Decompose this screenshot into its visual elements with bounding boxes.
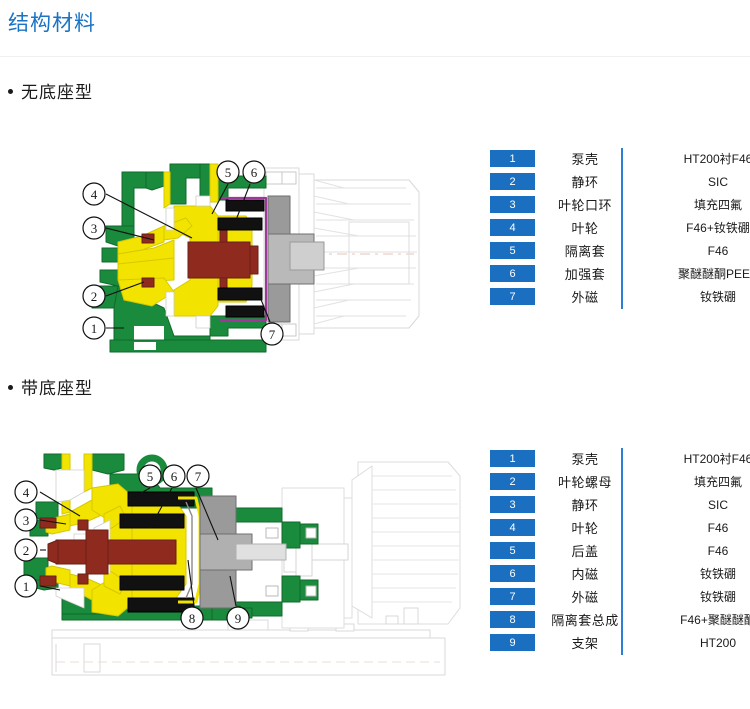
callout-2: 2 <box>23 543 30 558</box>
legend-row: 9 支架 HT200 <box>490 632 750 655</box>
callout-6: 6 <box>251 165 258 180</box>
callout-8: 8 <box>189 611 196 626</box>
legend-badge: 6 <box>490 265 535 282</box>
callout-1: 1 <box>23 579 30 594</box>
legend-row: 8 隔离套总成 F46+聚醚醚酮 <box>490 609 750 632</box>
diagram-no-baseplate: 4 3 2 1 5 6 7 <box>14 130 464 370</box>
legend-row: 7 外磁 钕铁硼 <box>490 286 750 309</box>
legend-row: 5 后盖 F46 <box>490 540 750 563</box>
bullet-dot-icon <box>8 89 13 94</box>
legend-badge: 3 <box>490 496 535 513</box>
legend-material: 钕铁硼 <box>650 586 750 609</box>
legend-part-name: 后盖 <box>535 540 635 563</box>
legend-material: SIC <box>650 494 750 517</box>
legend-material: 填充四氟 <box>650 471 750 494</box>
legend-material: F46 <box>650 540 750 563</box>
legend-material: HT200衬F46 <box>650 148 750 171</box>
section-heading-text: 带底座型 <box>21 379 93 398</box>
legend-material: F46 <box>650 517 750 540</box>
legend-row: 5 隔离套 F46 <box>490 240 750 263</box>
bullet-dot-icon <box>8 385 13 390</box>
legend-rows: 1 泵壳 HT200衬F46 2 叶轮螺母 填充四氟 3 静环 SIC 4 叶轮… <box>490 448 750 655</box>
legend-part-name: 泵壳 <box>535 448 635 471</box>
legend-part-name: 静环 <box>535 171 635 194</box>
legend-part-name: 叶轮螺母 <box>535 471 635 494</box>
callout-7: 7 <box>195 469 202 484</box>
legend-material: 钕铁硼 <box>650 563 750 586</box>
legend-badge: 7 <box>490 588 535 605</box>
legend-material: F46 <box>650 240 750 263</box>
legend-part-name: 静环 <box>535 494 635 517</box>
section-heading-text: 无底座型 <box>21 83 93 102</box>
callout-6: 6 <box>171 469 178 484</box>
legend-badge: 4 <box>490 219 535 236</box>
shaft-and-inner-magnet-red <box>188 242 258 278</box>
section-heading-with-base: 带底座型 <box>8 378 93 400</box>
callout-3: 3 <box>23 513 30 528</box>
callout-5: 5 <box>147 469 154 484</box>
section-heading-no-base: 无底座型 <box>8 82 93 104</box>
legend-badge: 6 <box>490 565 535 582</box>
legend-row: 1 泵壳 HT200衬F46 <box>490 448 750 471</box>
structural-material-page: 结构材料 无底座型 <box>0 0 750 709</box>
legend-material: HT200 <box>650 632 750 655</box>
legend-badge: 5 <box>490 542 535 559</box>
legend-part-name: 支架 <box>535 632 635 655</box>
legend-row: 4 叶轮 F46 <box>490 517 750 540</box>
legend-row: 6 加强套 聚醚醚酮PEEK <box>490 263 750 286</box>
rear-shaft-gray <box>236 544 286 560</box>
legend-badge: 2 <box>490 473 535 490</box>
legend-row: 3 叶轮口环 填充四氟 <box>490 194 750 217</box>
legend-badge: 5 <box>490 242 535 259</box>
callout-4: 4 <box>91 187 98 202</box>
title-divider <box>0 56 750 57</box>
legend-row: 2 叶轮螺母 填充四氟 <box>490 471 750 494</box>
legend-badge: 2 <box>490 173 535 190</box>
legend-table-with-base: 1 泵壳 HT200衬F46 2 叶轮螺母 填充四氟 3 静环 SIC 4 叶轮… <box>490 448 750 655</box>
legend-badge: 8 <box>490 611 535 628</box>
legend-row: 4 叶轮 F46+钕铁硼 <box>490 217 750 240</box>
callout-9: 9 <box>235 611 242 626</box>
callout-1: 1 <box>91 321 98 336</box>
legend-material: SIC <box>650 171 750 194</box>
legend-part-name: 叶轮 <box>535 217 635 240</box>
legend-part-name: 隔离套 <box>535 240 635 263</box>
legend-badge: 7 <box>490 288 535 305</box>
callout-2: 2 <box>91 289 98 304</box>
legend-row: 2 静环 SIC <box>490 171 750 194</box>
callout-5: 5 <box>225 165 232 180</box>
page-title: 结构材料 <box>8 10 96 38</box>
legend-badge: 9 <box>490 634 535 651</box>
legend-row: 7 外磁 钕铁硼 <box>490 586 750 609</box>
callout-3: 3 <box>91 221 98 236</box>
legend-row: 3 静环 SIC <box>490 494 750 517</box>
legend-badge: 3 <box>490 196 535 213</box>
diagram-with-baseplate: 4 3 2 1 5 6 7 8 9 <box>0 440 470 685</box>
legend-material: F46+钕铁硼 <box>650 217 750 240</box>
legend-row: 1 泵壳 HT200衬F46 <box>490 148 750 171</box>
legend-material: F46+聚醚醚酮 <box>650 609 750 632</box>
legend-part-name: 叶轮口环 <box>535 194 635 217</box>
baseplate-outline <box>52 630 445 675</box>
legend-material: 聚醚醚酮PEEK <box>650 263 750 286</box>
callout-7: 7 <box>269 327 276 342</box>
legend-row: 6 内磁 钕铁硼 <box>490 563 750 586</box>
legend-badge: 4 <box>490 519 535 536</box>
legend-part-name: 外磁 <box>535 586 635 609</box>
coupling-shaft-gray <box>290 242 324 270</box>
legend-table-no-base: 1 泵壳 HT200衬F46 2 静环 SIC 3 叶轮口环 填充四氟 4 叶轮… <box>490 148 750 309</box>
legend-material: 钕铁硼 <box>650 286 750 309</box>
legend-part-name: 泵壳 <box>535 148 635 171</box>
legend-part-name: 外磁 <box>535 286 635 309</box>
legend-part-name: 叶轮 <box>535 517 635 540</box>
legend-part-name: 隔离套总成 <box>535 609 635 632</box>
legend-part-name: 加强套 <box>535 263 635 286</box>
legend-material: 填充四氟 <box>650 194 750 217</box>
callout-4: 4 <box>23 485 30 500</box>
legend-badge: 1 <box>490 150 535 167</box>
legend-part-name: 内磁 <box>535 563 635 586</box>
legend-rows: 1 泵壳 HT200衬F46 2 静环 SIC 3 叶轮口环 填充四氟 4 叶轮… <box>490 148 750 309</box>
legend-material: HT200衬F46 <box>650 448 750 471</box>
legend-badge: 1 <box>490 450 535 467</box>
